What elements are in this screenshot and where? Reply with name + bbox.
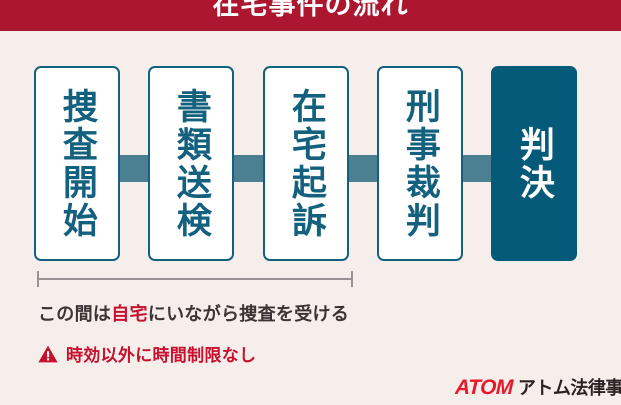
caption-highlight: 自宅 bbox=[111, 304, 148, 324]
bracket-cap-left bbox=[37, 271, 39, 287]
flow-step-label-5: 判決 bbox=[493, 68, 575, 259]
page-title: 在宅事件の流れ bbox=[0, 0, 621, 24]
brand-logo: ATOM アトム法律事務 bbox=[455, 374, 621, 400]
bracket-line bbox=[37, 278, 353, 280]
caption-suffix: にいながら捜査を受ける bbox=[148, 304, 349, 324]
flow-step-label-3: 在宅起訴 bbox=[265, 68, 347, 259]
bracket-cap-right bbox=[351, 271, 353, 287]
flow-step-box-1: 捜査開始 bbox=[34, 66, 120, 261]
warning-text: 時効以外に時間制限なし bbox=[66, 341, 256, 366]
brand-name: アトム法律事務 bbox=[518, 374, 621, 400]
flow-step-box-3: 在宅起訴 bbox=[263, 66, 349, 261]
bracket bbox=[37, 271, 353, 287]
flow-step-label-1: 捜査開始 bbox=[36, 68, 118, 259]
flow-step-label-2: 書類送検 bbox=[150, 68, 232, 259]
flow-step-box-5: 判決 bbox=[491, 66, 577, 261]
flow-diagram: 捜査開始 書類送検 在宅起訴 刑事裁判 判決 bbox=[34, 66, 587, 263]
infographic-root: 在宅事件の流れ 捜査開始 書類送検 在宅起訴 刑事裁判 判決 この間は自宅にいな… bbox=[0, 0, 621, 405]
caption-prefix: この間は bbox=[38, 304, 111, 324]
brand-mark: ATOM bbox=[455, 376, 513, 400]
warning-triangle-icon bbox=[38, 345, 58, 363]
warning-note: 時効以外に時間制限なし bbox=[38, 341, 256, 366]
flow-step-label-4: 刑事裁判 bbox=[379, 68, 461, 259]
header-band: 在宅事件の流れ bbox=[0, 0, 621, 31]
caption: この間は自宅にいながら捜査を受ける bbox=[38, 300, 349, 326]
flow-step-box-4: 刑事裁判 bbox=[377, 66, 463, 261]
flow-step-box-2: 書類送検 bbox=[148, 66, 234, 261]
